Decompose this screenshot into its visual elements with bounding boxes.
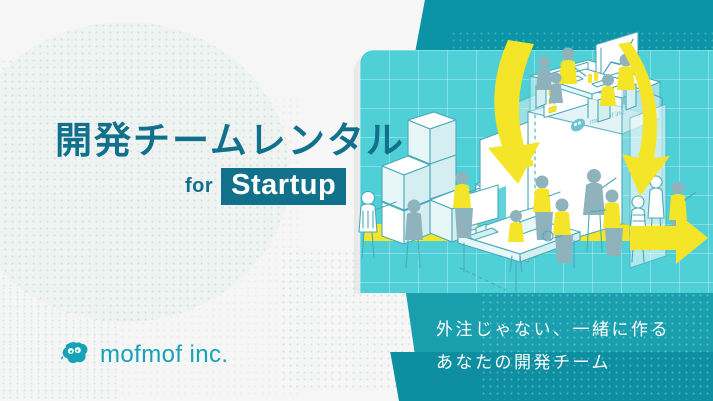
- subtitle-highlight-badge: Startup: [221, 168, 346, 205]
- person-meeting-seated-left: [549, 73, 563, 104]
- subtitle-row: for Startup: [185, 168, 346, 205]
- brand-logo-text: mofmof inc.: [100, 343, 228, 367]
- tagline-line-2: あなたの開発チーム: [436, 346, 670, 379]
- person-meeting-right-seated: [600, 74, 616, 106]
- mofmof-sheep-mascot-icon: [60, 341, 89, 369]
- brand-logo[interactable]: mofmof inc.: [60, 341, 228, 369]
- tagline-line-1: 外注じゃない、一緒に作る: [436, 313, 670, 346]
- marketing-banner: .ln{fill:none;stroke:#4aa9bb;stroke-widt…: [0, 0, 713, 401]
- subtitle-prefix: for: [185, 175, 213, 198]
- tagline: 外注じゃない、一緒に作る あなたの開発チーム: [436, 313, 670, 379]
- page-title: 開発チームレンタル: [55, 122, 405, 159]
